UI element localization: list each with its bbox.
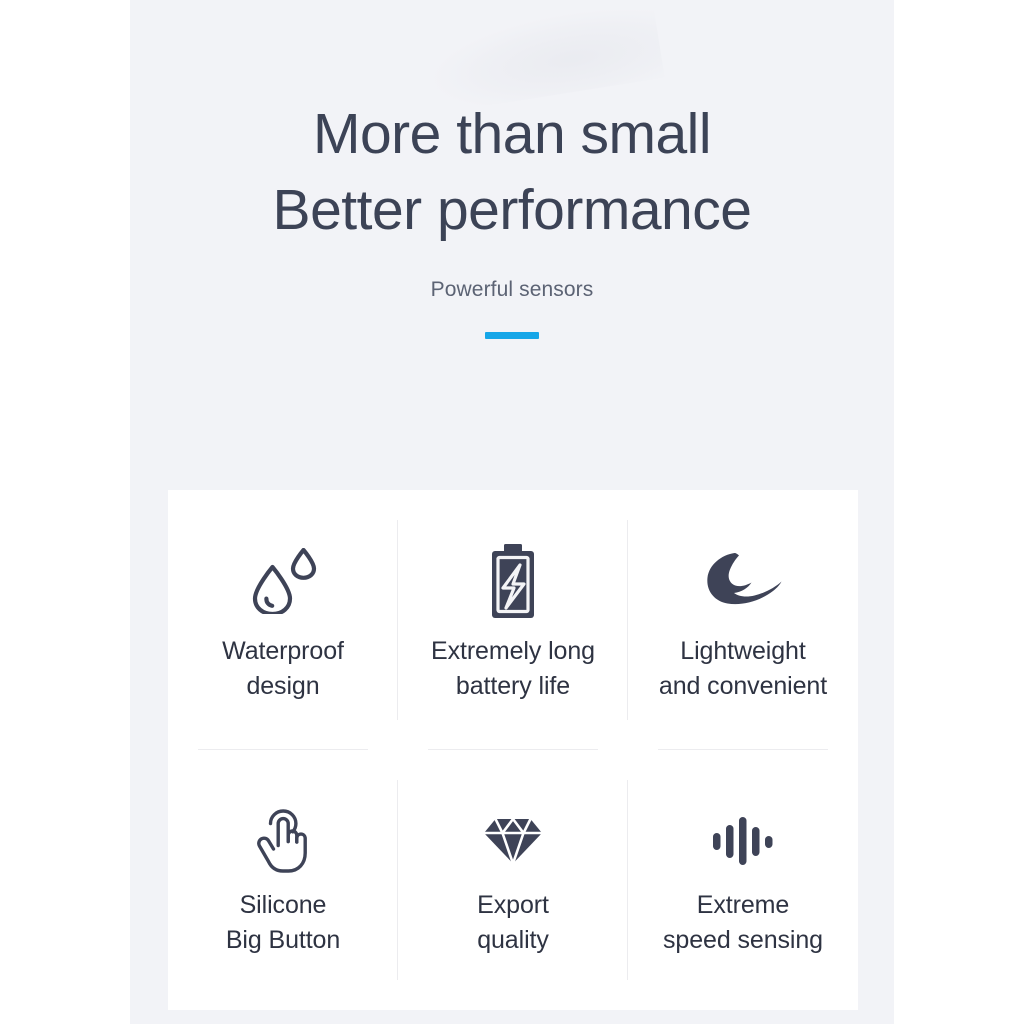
product-feature-page: More than small Better performance Power…	[0, 0, 1024, 1024]
page-title-line-2: Better performance	[130, 172, 894, 248]
page-subtitle: Powerful sensors	[130, 278, 894, 302]
feature-card: Waterproof design Extremely long battery…	[168, 490, 858, 1010]
feature-label: Lightweight and convenient	[659, 634, 827, 704]
feature-cell-silicone-button: Silicone Big Button	[168, 750, 398, 1010]
battery-charging-icon	[487, 536, 539, 626]
page-title-line-1: More than small	[130, 96, 894, 172]
feature-label: Extremely long battery life	[431, 634, 595, 704]
feature-grid: Waterproof design Extremely long battery…	[168, 490, 858, 1010]
feature-cell-battery: Extremely long battery life	[398, 490, 628, 750]
feature-label: Extreme speed sensing	[663, 888, 823, 958]
water-drops-icon	[246, 536, 320, 626]
feature-label: Export quality	[477, 888, 549, 958]
tap-hand-icon	[252, 802, 314, 880]
feature-label: Silicone Big Button	[226, 888, 340, 958]
feature-cell-lightweight: Lightweight and convenient	[628, 490, 858, 750]
feature-label: Waterproof design	[222, 634, 344, 704]
feather-icon	[703, 536, 783, 626]
feature-cell-waterproof: Waterproof design	[168, 490, 398, 750]
feature-cell-export-quality: Export quality	[398, 750, 628, 1010]
waveform-icon	[711, 802, 775, 880]
feature-cell-speed-sensing: Extreme speed sensing	[628, 750, 858, 1010]
accent-bar	[485, 332, 539, 339]
diamond-icon	[481, 802, 545, 880]
hero-section: More than small Better performance Power…	[130, 96, 894, 339]
